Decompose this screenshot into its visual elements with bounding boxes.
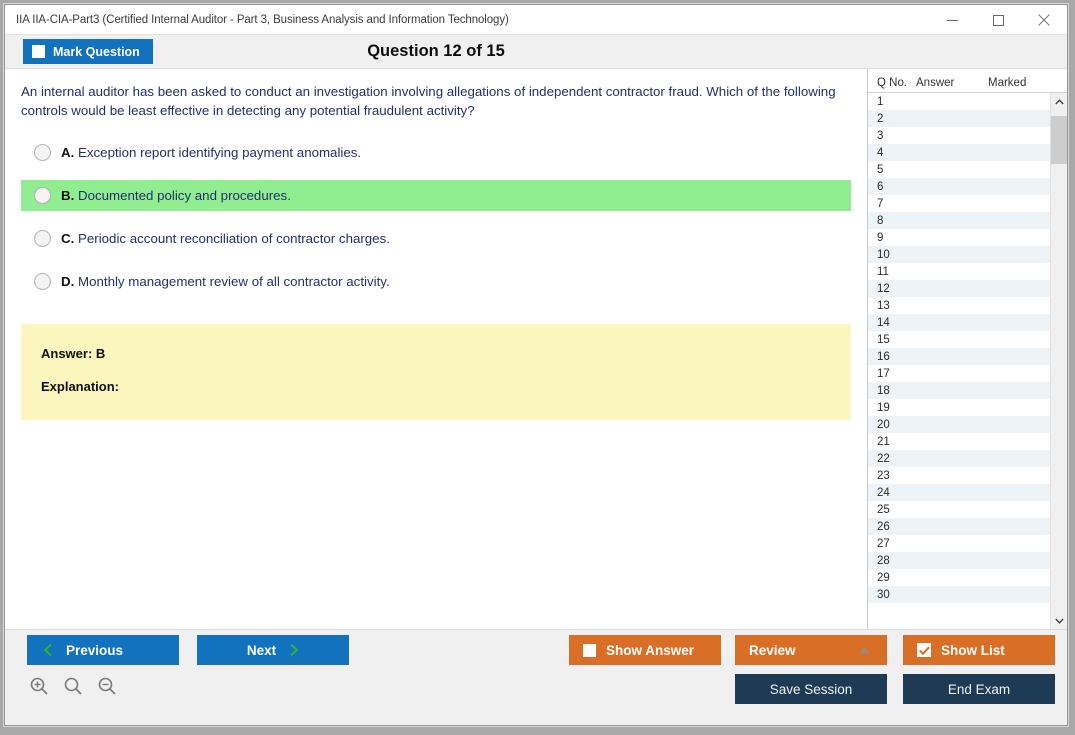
- zoom-in-icon: [29, 676, 49, 696]
- question-list-row[interactable]: 25: [868, 501, 1050, 518]
- row-question-number: 26: [868, 521, 916, 533]
- window-controls: [929, 5, 1067, 35]
- question-list-row[interactable]: 2: [868, 110, 1050, 127]
- show-answer-button[interactable]: Show Answer: [569, 635, 721, 665]
- review-dropdown[interactable]: Review: [735, 635, 887, 665]
- question-list-scrollbar[interactable]: [1050, 93, 1067, 629]
- mark-question-checkbox[interactable]: [32, 45, 45, 58]
- question-list-row[interactable]: 17: [868, 365, 1050, 382]
- radio-b[interactable]: [34, 187, 51, 204]
- option-label-b: B. Documented policy and procedures.: [61, 188, 291, 203]
- option-label-d: D. Monthly management review of all cont…: [61, 274, 390, 289]
- column-header-answer: Answer: [916, 77, 988, 89]
- option-row-d[interactable]: D. Monthly management review of all cont…: [21, 266, 851, 297]
- exam-header: Mark Question Question 12 of 15: [5, 35, 1067, 69]
- question-list-row[interactable]: 9: [868, 229, 1050, 246]
- option-row-a[interactable]: A. Exception report identifying payment …: [21, 137, 851, 168]
- title-bar: IIA IIA-CIA-Part3 (Certified Internal Au…: [5, 5, 1067, 35]
- show-answer-label: Show Answer: [606, 643, 694, 658]
- radio-c[interactable]: [34, 230, 51, 247]
- row-question-number: 18: [868, 385, 916, 397]
- option-letter-a: A.: [61, 145, 74, 160]
- mark-question-label: Mark Question: [53, 45, 140, 59]
- zoom-in-button[interactable]: [27, 674, 51, 698]
- row-question-number: 23: [868, 470, 916, 482]
- question-list-row[interactable]: 6: [868, 178, 1050, 195]
- question-list-row[interactable]: 10: [868, 246, 1050, 263]
- row-question-number: 21: [868, 436, 916, 448]
- show-answer-checkbox[interactable]: [583, 644, 596, 657]
- mark-question-button[interactable]: Mark Question: [23, 39, 153, 64]
- question-list-row[interactable]: 23: [868, 467, 1050, 484]
- question-list-row[interactable]: 11: [868, 263, 1050, 280]
- answer-line: Answer: B: [41, 346, 851, 361]
- checkmark-icon: [919, 646, 930, 655]
- previous-button[interactable]: Previous: [27, 635, 179, 665]
- row-question-number: 28: [868, 555, 916, 567]
- row-question-number: 2: [868, 113, 916, 125]
- zoom-out-button[interactable]: [95, 674, 119, 698]
- column-header-marked: Marked: [988, 77, 1067, 89]
- chevron-left-icon: [43, 643, 54, 657]
- maximize-button[interactable]: [975, 5, 1021, 35]
- option-letter-d: D.: [61, 274, 74, 289]
- answer-explanation-box: Answer: B Explanation:: [21, 324, 851, 420]
- option-row-c[interactable]: C. Periodic account reconciliation of co…: [21, 223, 851, 254]
- show-list-checkbox[interactable]: [917, 643, 931, 657]
- explanation-line: Explanation:: [41, 379, 851, 394]
- zoom-out-icon: [97, 676, 117, 696]
- show-list-label: Show List: [941, 643, 1005, 658]
- minimize-button[interactable]: [929, 5, 975, 35]
- column-header-q-no: Q No.: [868, 77, 916, 89]
- question-list-row[interactable]: 4: [868, 144, 1050, 161]
- end-exam-button[interactable]: End Exam: [903, 674, 1055, 704]
- exam-window: IIA IIA-CIA-Part3 (Certified Internal Au…: [4, 4, 1068, 726]
- question-list-row[interactable]: 24: [868, 484, 1050, 501]
- question-list-header: Q No. Answer Marked: [868, 69, 1067, 93]
- minimize-icon: [947, 15, 958, 26]
- zoom-toolbar: [27, 674, 119, 698]
- row-question-number: 16: [868, 351, 916, 363]
- row-question-number: 5: [868, 164, 916, 176]
- question-list-body: 1234567891011121314151617181920212223242…: [868, 93, 1067, 629]
- question-list-row[interactable]: 13: [868, 297, 1050, 314]
- save-session-button[interactable]: Save Session: [735, 674, 887, 704]
- row-question-number: 29: [868, 572, 916, 584]
- option-letter-b: B.: [61, 188, 74, 203]
- question-list-row[interactable]: 19: [868, 399, 1050, 416]
- option-text-c: Periodic account reconciliation of contr…: [78, 231, 390, 246]
- question-list-panel: Q No. Answer Marked 12345678910111213141…: [867, 69, 1067, 629]
- next-button[interactable]: Next: [197, 635, 349, 665]
- question-list-row[interactable]: 3: [868, 127, 1050, 144]
- maximize-icon: [993, 15, 1004, 26]
- question-list-rows: 1234567891011121314151617181920212223242…: [868, 93, 1050, 629]
- chevron-down-icon: [1055, 618, 1064, 624]
- question-list-row[interactable]: 8: [868, 212, 1050, 229]
- row-question-number: 4: [868, 147, 916, 159]
- row-question-number: 8: [868, 215, 916, 227]
- show-list-button[interactable]: Show List: [903, 635, 1055, 665]
- spacer: [21, 211, 851, 223]
- zoom-reset-icon: [63, 676, 83, 696]
- chevron-right-icon: [288, 643, 299, 657]
- question-list-row[interactable]: 5: [868, 161, 1050, 178]
- option-label-c: C. Periodic account reconciliation of co…: [61, 231, 390, 246]
- scroll-down-button[interactable]: [1051, 612, 1067, 629]
- question-counter: Question 12 of 15: [5, 42, 1067, 61]
- radio-a[interactable]: [34, 144, 51, 161]
- question-text: An internal auditor has been asked to co…: [21, 83, 851, 121]
- question-list-row[interactable]: 18: [868, 382, 1050, 399]
- question-list-row[interactable]: 28: [868, 552, 1050, 569]
- question-list-row[interactable]: 14: [868, 314, 1050, 331]
- option-text-b: Documented policy and procedures.: [78, 188, 291, 203]
- row-question-number: 10: [868, 249, 916, 261]
- row-question-number: 25: [868, 504, 916, 516]
- scroll-up-button[interactable]: [1051, 93, 1067, 110]
- row-question-number: 7: [868, 198, 916, 210]
- row-question-number: 27: [868, 538, 916, 550]
- next-label: Next: [247, 643, 276, 658]
- row-question-number: 3: [868, 130, 916, 142]
- question-list-row[interactable]: 26: [868, 518, 1050, 535]
- question-list-row[interactable]: 15: [868, 331, 1050, 348]
- option-text-a: Exception report identifying payment ano…: [78, 145, 361, 160]
- question-list-row[interactable]: 20: [868, 416, 1050, 433]
- scrollbar-thumb[interactable]: [1051, 116, 1067, 164]
- row-question-number: 6: [868, 181, 916, 193]
- question-list-row[interactable]: 21: [868, 433, 1050, 450]
- review-label: Review: [749, 643, 796, 658]
- question-list-row[interactable]: 27: [868, 535, 1050, 552]
- question-list-row[interactable]: 12: [868, 280, 1050, 297]
- row-question-number: 22: [868, 453, 916, 465]
- row-question-number: 14: [868, 317, 916, 329]
- caret-up-icon: [858, 647, 871, 654]
- question-list-row[interactable]: 16: [868, 348, 1050, 365]
- row-question-number: 24: [868, 487, 916, 499]
- body-area: An internal auditor has been asked to co…: [5, 69, 1067, 629]
- row-question-number: 17: [868, 368, 916, 380]
- question-list-row[interactable]: 30: [868, 586, 1050, 603]
- row-question-number: 30: [868, 589, 916, 601]
- window-title: IIA IIA-CIA-Part3 (Certified Internal Au…: [5, 14, 509, 26]
- question-list-row[interactable]: 29: [868, 569, 1050, 586]
- row-question-number: 19: [868, 402, 916, 414]
- question-pane: An internal auditor has been asked to co…: [5, 69, 867, 629]
- row-question-number: 1: [868, 96, 916, 108]
- end-exam-label: End Exam: [948, 682, 1010, 697]
- row-question-number: 9: [868, 232, 916, 244]
- question-list-row[interactable]: 7: [868, 195, 1050, 212]
- option-row-b[interactable]: B. Documented policy and procedures.: [21, 180, 851, 211]
- option-letter-c: C.: [61, 231, 74, 246]
- row-question-number: 13: [868, 300, 916, 312]
- save-session-label: Save Session: [770, 682, 853, 697]
- chevron-up-icon: [1055, 99, 1064, 105]
- row-question-number: 11: [868, 266, 916, 278]
- close-button[interactable]: [1021, 5, 1067, 35]
- spacer: [21, 254, 851, 266]
- option-text-d: Monthly management review of all contrac…: [78, 274, 390, 289]
- row-question-number: 15: [868, 334, 916, 346]
- question-list-row[interactable]: 1: [868, 93, 1050, 110]
- close-icon: [1038, 14, 1050, 26]
- row-question-number: 12: [868, 283, 916, 295]
- spacer: [21, 168, 851, 180]
- footer-toolbar: Previous Next Show Answer Review Sho: [5, 629, 1067, 725]
- question-list-row[interactable]: 22: [868, 450, 1050, 467]
- scrollbar-track[interactable]: [1051, 110, 1067, 612]
- option-label-a: A. Exception report identifying payment …: [61, 145, 361, 160]
- zoom-reset-button[interactable]: [61, 674, 85, 698]
- previous-label: Previous: [66, 643, 123, 658]
- radio-d[interactable]: [34, 273, 51, 290]
- row-question-number: 20: [868, 419, 916, 431]
